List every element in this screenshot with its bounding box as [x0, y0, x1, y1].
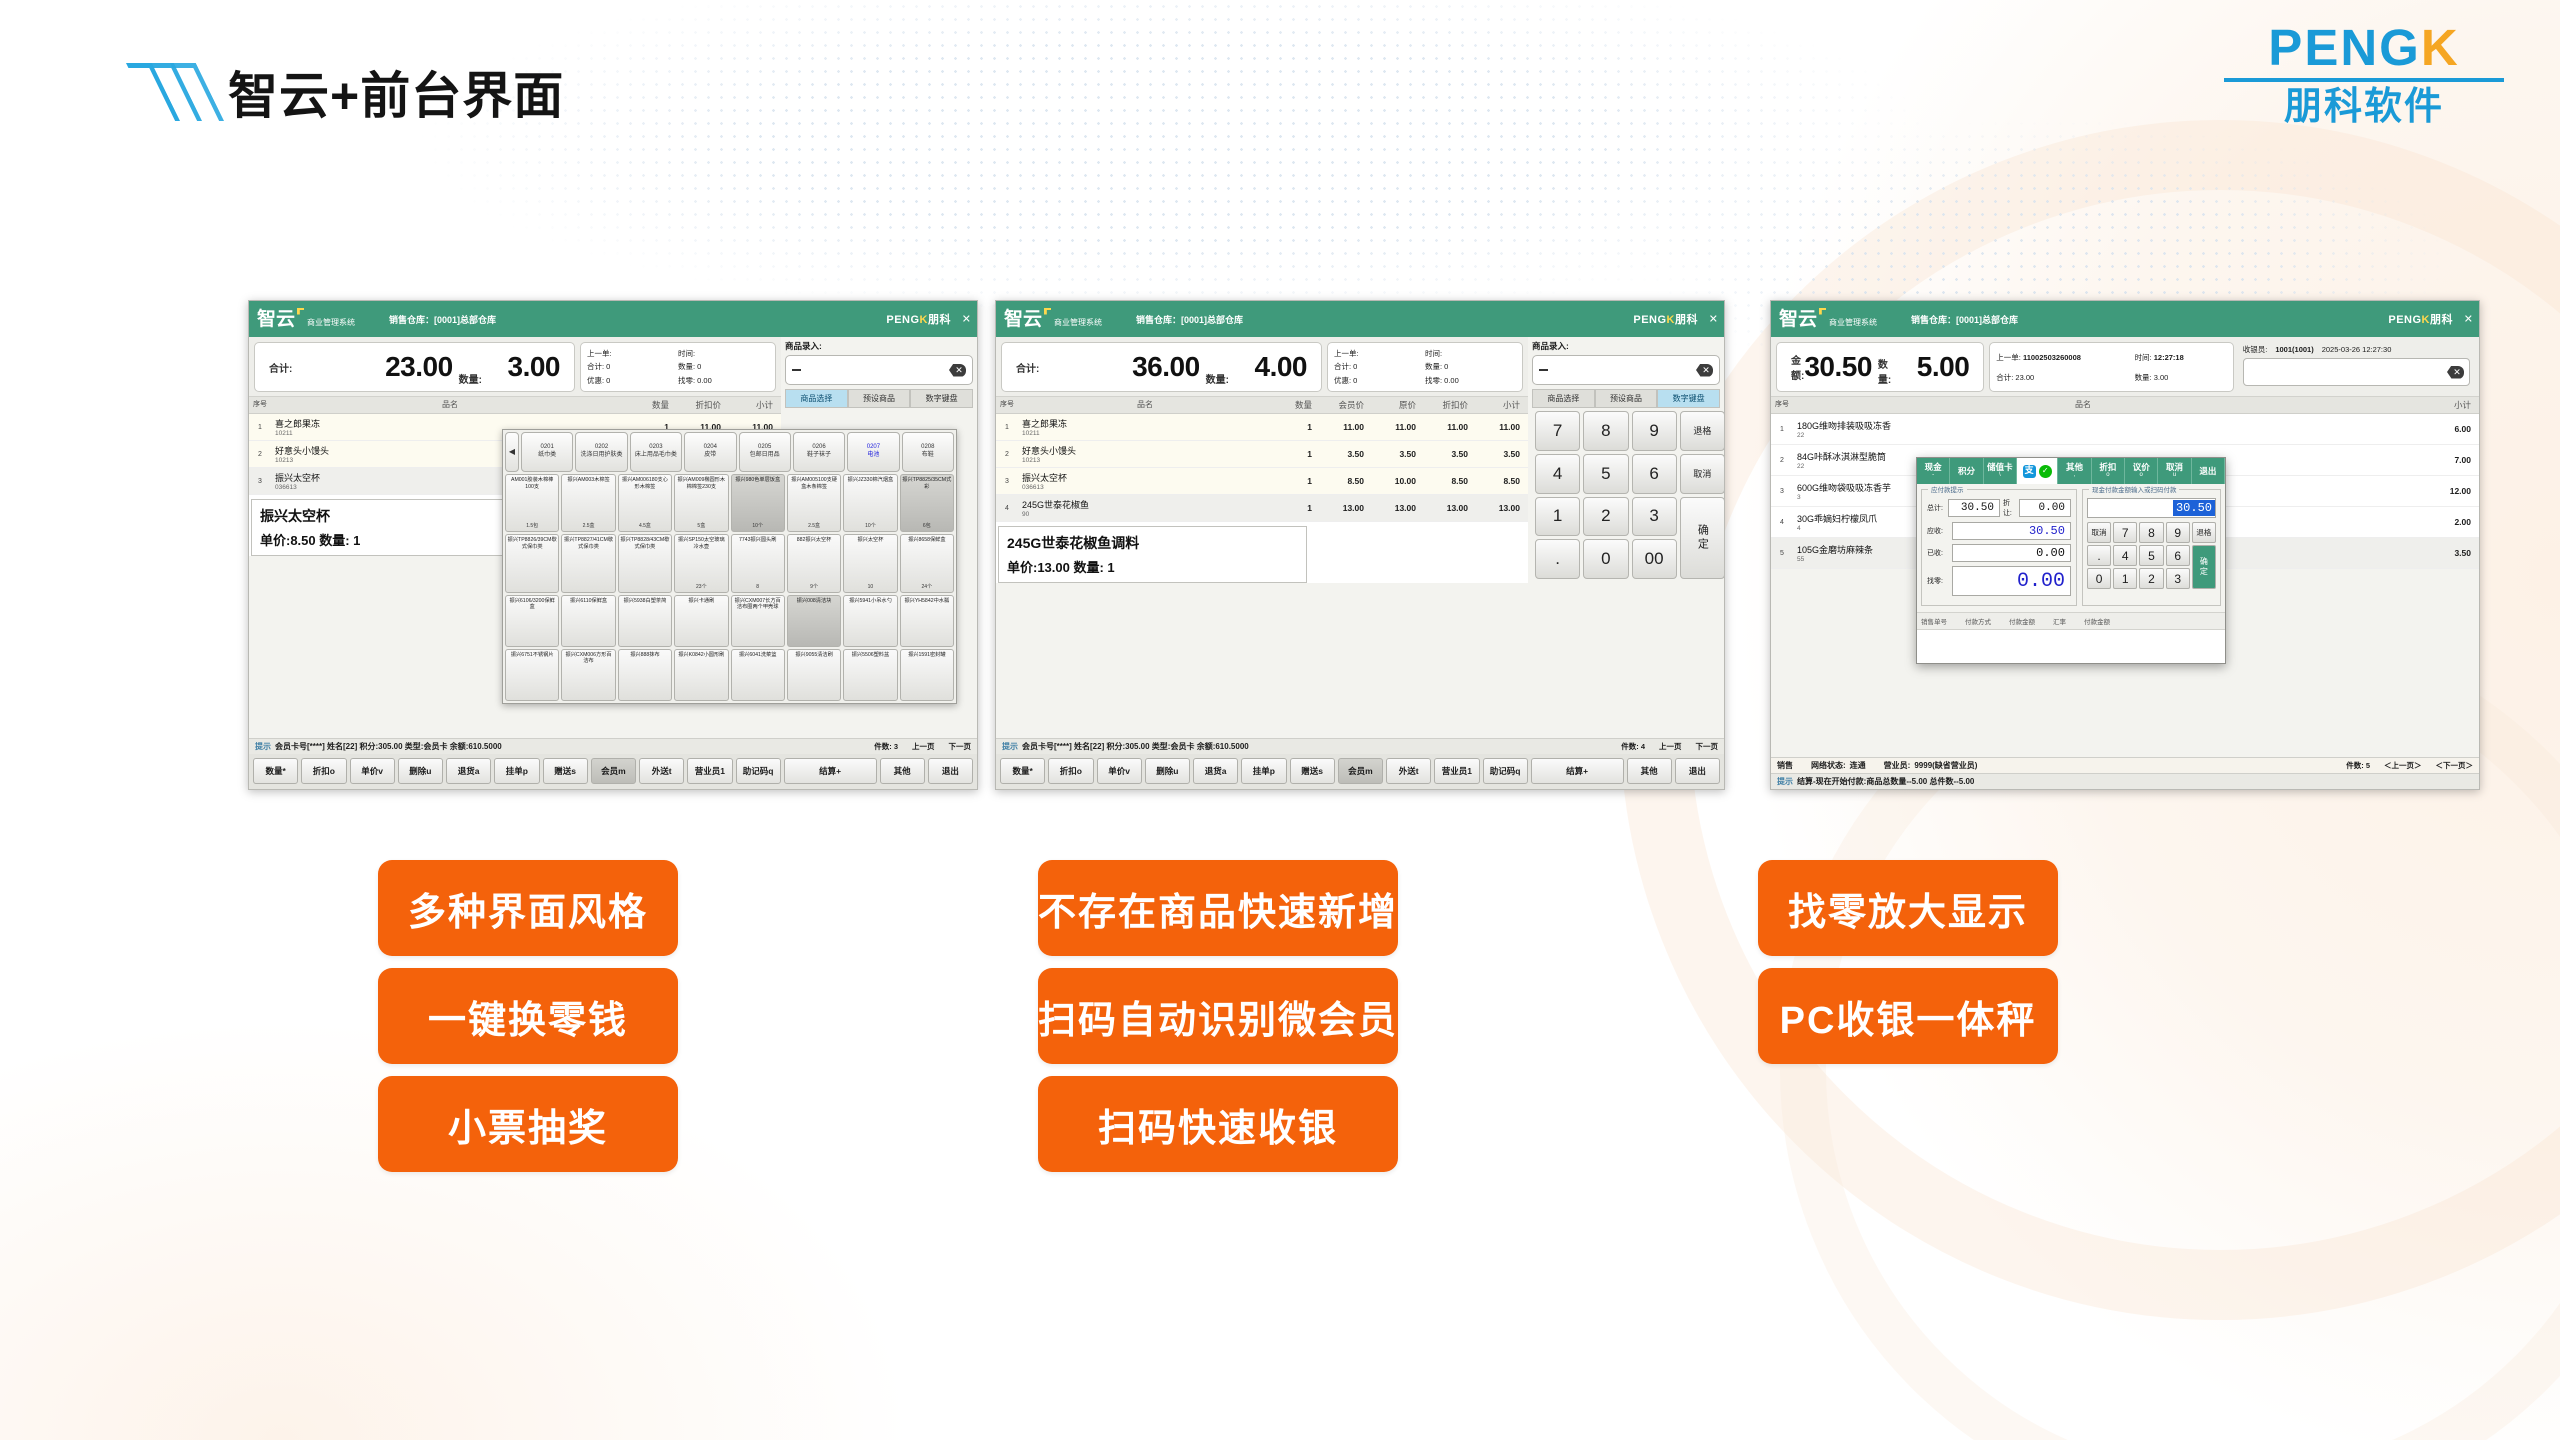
category-button[interactable]: 0206鞋子袜子: [793, 432, 845, 472]
toolbar-button[interactable]: 会员m: [1338, 758, 1383, 784]
page-next-button[interactable]: 下一页: [949, 741, 972, 752]
product-tile[interactable]: 振兴888抹布: [618, 649, 672, 701]
product-tile[interactable]: 振兴6106/3200保鲜盒: [505, 595, 559, 647]
product-tile[interactable]: 振兴卡通刷: [674, 595, 728, 647]
pos2-selected-item-detail: 245G世泰花椒鱼调料 单价:13.00 数量: 1: [998, 526, 1307, 583]
product-entry-input[interactable]: ✕: [1532, 355, 1720, 385]
pos3-qty-value: 5.00: [1895, 351, 1969, 383]
pos3-prompt-text: 结算-现在开始付款:商品总数量--5.00 总件数--5.00: [1797, 776, 1974, 787]
pos2-member-status: 会员卡号[****] 姓名[22] 积分:305.00 类型:会员卡 余额:61…: [1022, 741, 1249, 752]
payment-tab[interactable]: 折扣o: [2092, 458, 2125, 484]
payment-keypad-key[interactable]: 6: [2166, 545, 2190, 566]
pos3-clerk: 9999(缺省营业员): [1914, 760, 1977, 771]
pos1-warehouse: 销售仓库：[0001]总部仓库: [389, 313, 496, 326]
toolbar-button[interactable]: 删除u: [398, 758, 443, 784]
double-chevron-icon: [140, 63, 206, 121]
product-tile[interactable]: 振兴6751不锈钢片: [505, 649, 559, 701]
keypad-key[interactable]: 6: [1632, 454, 1677, 494]
toolbar-button[interactable]: 数量*: [253, 758, 298, 784]
product-tile[interactable]: 振兴5506塑料盆: [843, 649, 897, 701]
keypad-key[interactable]: 退格: [1680, 411, 1725, 451]
feature-button[interactable]: 扫码快速收银: [1038, 1076, 1398, 1172]
feature-button[interactable]: 小票抽奖: [378, 1076, 678, 1172]
pos3-footer: 销售 网络状态: 连通 营业员: 9999(缺省营业员) 件数: 5 ＜上一页＞…: [1771, 757, 2479, 789]
toolbar-button[interactable]: 赠送s: [543, 758, 588, 784]
pos3-titlebar: 智云 商业管理系统 销售仓库：[0001]总部仓库 PENGK朋科 ✕: [1771, 301, 2479, 337]
feature-button[interactable]: 扫码自动识别微会员: [1038, 968, 1398, 1064]
toolbar-button[interactable]: 结算+: [1531, 758, 1624, 784]
toolbar-button[interactable]: 退货a: [1193, 758, 1238, 784]
page-prev-button[interactable]: 上一页: [912, 741, 935, 752]
payment-dialog-body: 应付款提示 总计: 30.50 折让: 0.00 应收: 30.50 已收: 0…: [1917, 484, 2225, 612]
page-header: 智云+前台界面: [140, 56, 564, 128]
page-next-button[interactable]: ＜下一页＞: [2436, 760, 2474, 771]
pos2-summary: 合计: 36.00 数量: 4.00 上一单: 合计: 0 优惠: 0 时间: …: [996, 337, 1528, 396]
payment-tab[interactable]: 积分: [1950, 458, 1983, 484]
product-tile[interactable]: 振兴6041洗菜篮: [731, 649, 785, 701]
payment-tab[interactable]: 现金-: [1917, 458, 1950, 484]
category-button[interactable]: 0208布鞋: [902, 432, 954, 472]
pos1-toolbar: 数量*折扣o单价v删除u退货a挂单p赠送s会员m外送t营业员1助记码q结算+其他…: [249, 754, 977, 789]
close-icon[interactable]: ✕: [962, 313, 971, 326]
pos1-qty-value: 3.00: [486, 351, 560, 383]
pos3-mode: 销售: [1777, 760, 1793, 771]
keypad-key[interactable]: 3: [1632, 497, 1677, 537]
tab-numpad[interactable]: 数字键盘: [1657, 389, 1720, 408]
payment-tab[interactable]: 议价o: [2125, 458, 2158, 484]
keypad-key[interactable]: 0: [1583, 539, 1628, 579]
table-row[interactable]: 4 245G世泰花椒鱼90 1 13.00 13.00 13.00 13.00: [996, 495, 1528, 522]
wechat-pay-icon[interactable]: ✓: [2039, 465, 2052, 478]
product-tile[interactable]: 振兴TP8826/39CM歇式保巾类: [505, 534, 559, 592]
payment-keypad-key[interactable]: 确定: [2192, 545, 2216, 589]
pos2-titlebar: 智云 商业管理系统 销售仓库：[0001]总部仓库 PENGK朋科 ✕: [996, 301, 1724, 337]
feature-button[interactable]: 不存在商品快速新增: [1038, 860, 1398, 956]
product-tile[interactable]: 振兴CXM007长方百洁布圈两个甲壳球: [731, 595, 785, 647]
pos1-product-grid: AM001胶装木棉棒100支1.5包振兴AM003木棉签2.5盒振兴AM0061…: [505, 474, 954, 701]
pos2-footer: 提示 会员卡号[****] 姓名[22] 积分:305.00 类型:会员卡 余额…: [996, 738, 1724, 789]
logo-divider: [2224, 78, 2504, 82]
pos3-summary: 金额: 30.50 数量: 5.00 上一单: 11002503260008 合…: [1771, 337, 2479, 396]
payment-footer-column: 付款方式: [1965, 616, 1991, 626]
keypad-key[interactable]: 2: [1583, 497, 1628, 537]
pos2-total-value: 36.00: [1132, 351, 1200, 383]
product-tile[interactable]: 振兴8658保鲜盒24个: [900, 534, 954, 592]
payment-footer-column: 销售单号: [1921, 616, 1947, 626]
pos2-item-table: 序号 品名 数量 会员价 原价 折扣价 小计 1 喜之郎果冻10211 1 11…: [996, 396, 1528, 583]
payment-receivable-field: 30.50: [1952, 522, 2071, 540]
pos3-total-value: 30.50: [1804, 351, 1872, 383]
payment-keypad-key[interactable]: 7: [2113, 522, 2137, 543]
category-prev-button[interactable]: ◀: [505, 432, 519, 472]
keypad-key[interactable]: 8: [1583, 411, 1628, 451]
keypad-key[interactable]: 4: [1535, 454, 1580, 494]
pos3-datetime: 2025-03-26 12:27:30: [2322, 345, 2392, 354]
pos2-total-panel: 合计: 36.00 数量: 4.00: [1001, 342, 1322, 392]
pos1-brand: 智云 商业管理系统: [257, 310, 355, 329]
toolbar-button[interactable]: 助记码q: [736, 758, 781, 784]
category-button[interactable]: 0201纸巾类: [521, 432, 573, 472]
toolbar-button[interactable]: 退货a: [446, 758, 491, 784]
pos3-vendor-logo: PENGK朋科: [2388, 311, 2453, 327]
product-tile[interactable]: 振兴008清洁块: [787, 595, 841, 647]
product-tile[interactable]: 振兴9055清洁刷: [787, 649, 841, 701]
toolbar-button[interactable]: 结算+: [784, 758, 877, 784]
toolbar-button[interactable]: 单价v: [350, 758, 395, 784]
clear-icon[interactable]: ✕: [2447, 366, 2464, 379]
page-prev-button[interactable]: ＜上一页＞: [2384, 760, 2422, 771]
payment-input-group: 现金付款金额输入或扫码付款 30.50 取消789退格.456确定0123: [2082, 489, 2221, 606]
toolbar-button[interactable]: 其他: [1627, 758, 1672, 784]
toolbar-button[interactable]: 会员m: [591, 758, 636, 784]
payment-received-field: 0.00: [1952, 544, 2071, 562]
payment-footer-column: 汇率: [2053, 616, 2066, 626]
pos1-statusbar: 提示 会员卡号[****] 姓名[22] 积分:305.00 类型:会员卡 余额…: [249, 738, 977, 754]
payment-keypad-key[interactable]: 9: [2166, 522, 2190, 543]
product-tile[interactable]: 振兴AM009椭圆形木棉棉签230支5盒: [674, 474, 728, 532]
logo-wordmark: PENGK: [2224, 22, 2504, 73]
product-tile[interactable]: 振兴CXM006方形百洁布: [561, 649, 615, 701]
keypad-key[interactable]: 取消: [1680, 454, 1725, 494]
table-row[interactable]: 1 喜之郎果冻10211 1 11.00 11.00 11.00 11.00: [996, 414, 1528, 441]
payment-rebate-field: 0.00: [2019, 499, 2071, 517]
page-title: 智云+前台界面: [228, 56, 564, 128]
toolbar-button[interactable]: 营业员1: [687, 758, 732, 784]
toolbar-button[interactable]: 退出: [1675, 758, 1720, 784]
pos-window-2: 智云 商业管理系统 销售仓库：[0001]总部仓库 PENGK朋科 ✕ 合计: …: [995, 300, 1725, 790]
pos2-entry-tabs: 商品选择 预设商品 数字键盘: [1532, 389, 1720, 408]
product-tile[interactable]: 振兴TP8825/35CM式彩6包: [900, 474, 954, 532]
payment-keypad: 取消789退格.456确定0123: [2087, 522, 2216, 589]
payment-tab-scan-codes[interactable]: 支✓: [2017, 458, 2058, 484]
keypad-key[interactable]: 7: [1535, 411, 1580, 451]
product-tile[interactable]: 振兴AM006180支心形木棉签4.5盒: [618, 474, 672, 532]
alipay-icon[interactable]: 支: [2023, 465, 2036, 478]
pos1-titlebar: 智云 商业管理系统 销售仓库：[0001]总部仓库 PENGK朋科 ✕: [249, 301, 977, 337]
text-caret: [792, 369, 801, 371]
feature-button[interactable]: 一键换零钱: [378, 968, 678, 1064]
payment-keypad-key[interactable]: 8: [2139, 522, 2163, 543]
toolbar-button[interactable]: 助记码q: [1483, 758, 1528, 784]
pos3-cashier-panel: 收银员: 1001(1001) 2025-03-26 12:27:30 ✕: [2239, 342, 2474, 392]
product-tile[interactable]: 振兴TP8827/41CM歇式保巾类: [561, 534, 615, 592]
pos1-summary: 合计: 23.00 数量: 3.00 上一单: 合计: 0 优惠: 0 时间: …: [249, 337, 781, 396]
pos2-vendor-logo: PENGK朋科: [1633, 311, 1698, 327]
keypad-key[interactable]: 00: [1632, 539, 1677, 579]
toolbar-button[interactable]: 营业员1: [1434, 758, 1479, 784]
keypad-key[interactable]: 1: [1535, 497, 1580, 537]
pos1-member-status: 会员卡号[****] 姓名[22] 积分:305.00 类型:会员卡 余额:61…: [275, 741, 502, 752]
product-tile[interactable]: 振兴JZ330棉汽烟盒10个: [843, 474, 897, 532]
toolbar-button[interactable]: 折扣o: [301, 758, 346, 784]
clear-icon[interactable]: ✕: [1696, 364, 1713, 377]
page-next-button[interactable]: 下一页: [1696, 741, 1719, 752]
payment-footer-columns: 销售单号付款方式付款金额汇率付款金额: [1917, 612, 2225, 629]
pos1-category-row: ◀ 0201纸巾类 0202洗涤日用护肤类 0203床上用品毛巾类 0204皮带…: [505, 432, 954, 472]
payment-method-tabs: 现金-积分储值卡\支✓其他,折扣o议价o取消u退出: [1917, 458, 2225, 484]
payment-amount-input[interactable]: 30.50: [2087, 498, 2216, 518]
pos2-numeric-keypad: 789退格456取消123确定.000: [1532, 408, 1725, 582]
pos2-brand: 智云 商业管理系统: [1004, 310, 1102, 329]
product-tile[interactable]: AM001胶装木棉棒100支1.5包: [505, 474, 559, 532]
feature-button[interactable]: 多种界面风格: [378, 860, 678, 956]
pos1-table-header: 序号 品名 数量 折扣价 小计: [249, 397, 781, 414]
product-tile[interactable]: 振兴TP8828/43CM歇式保巾类: [618, 534, 672, 592]
category-button[interactable]: 0204皮带: [684, 432, 736, 472]
logo-subtitle: 朋科软件: [2224, 88, 2504, 126]
payment-keypad-key[interactable]: .: [2087, 545, 2111, 566]
toolbar-button[interactable]: 其他: [880, 758, 925, 784]
tab-preset-product[interactable]: 预设商品: [1595, 389, 1658, 408]
pos3-network-status: 连通: [1850, 760, 1866, 771]
payment-dialog: 现金-积分储值卡\支✓其他,折扣o议价o取消u退出 应付款提示 总计: 30.5…: [1916, 457, 2226, 664]
tab-numpad[interactable]: 数字键盘: [910, 389, 973, 408]
feature-button[interactable]: PC收银一体秤: [1758, 968, 2058, 1064]
payment-keypad-key[interactable]: 4: [2113, 545, 2137, 566]
product-tile[interactable]: 振兴5941小吊水勺: [843, 595, 897, 647]
clear-icon[interactable]: ✕: [949, 364, 966, 377]
product-tile[interactable]: 振兴AM005100支硬盒木条棉签2.5盒: [787, 474, 841, 532]
payment-tab[interactable]: 其他,: [2058, 458, 2091, 484]
text-caret: [1539, 369, 1548, 371]
product-tile[interactable]: 振兴AM003木棉签2.5盒: [561, 474, 615, 532]
page-prev-button[interactable]: 上一页: [1659, 741, 1682, 752]
close-icon[interactable]: ✕: [2464, 313, 2473, 326]
payment-change-field: 0.00: [1952, 566, 2071, 596]
product-tile[interactable]: 882振兴太空杯9个: [787, 534, 841, 592]
pos1-entry-tabs: 商品选择 预设商品 数字键盘: [785, 389, 973, 408]
payment-tab[interactable]: 退出: [2192, 458, 2225, 484]
toolbar-button[interactable]: 单价v: [1097, 758, 1142, 784]
toolbar-button[interactable]: 外送t: [1386, 758, 1431, 784]
pos1-footer: 提示 会员卡号[****] 姓名[22] 积分:305.00 类型:会员卡 余额…: [249, 738, 977, 789]
tab-preset-product[interactable]: 预设商品: [848, 389, 911, 408]
payment-footer-column: 付款金额: [2084, 616, 2110, 626]
pos1-total-value: 23.00: [385, 351, 453, 383]
keypad-key[interactable]: 9: [1632, 411, 1677, 451]
toolbar-button[interactable]: 删除u: [1145, 758, 1190, 784]
keypad-key[interactable]: 确定: [1680, 497, 1725, 580]
product-entry-input[interactable]: ✕: [785, 355, 973, 385]
pos1-total-panel: 合计: 23.00 数量: 3.00: [254, 342, 575, 392]
payment-record-area: [1917, 629, 2225, 663]
product-tile[interactable]: 振兴K0842小圆形刷: [674, 649, 728, 701]
payment-total-field: 30.50: [1948, 499, 2000, 517]
pos3-warehouse: 销售仓库：[0001]总部仓库: [1911, 313, 2018, 326]
payment-tab[interactable]: 取消u: [2158, 458, 2191, 484]
keypad-key[interactable]: .: [1535, 539, 1580, 579]
payment-keypad-key[interactable]: 5: [2139, 545, 2163, 566]
payment-keypad-key[interactable]: 退格: [2192, 522, 2216, 543]
payment-keypad-key[interactable]: 取消: [2087, 522, 2111, 543]
pos2-last-order-panel: 上一单: 合计: 0 优惠: 0 时间: 数量: 0 找零: 0.00: [1327, 342, 1523, 392]
table-row[interactable]: 3 振兴太空杯036613 1 8.50 10.00 8.50 8.50: [996, 468, 1528, 495]
category-button[interactable]: 0202洗涤日用护肤类: [575, 432, 627, 472]
pos1-last-order-panel: 上一单: 合计: 0 优惠: 0 时间: 数量: 0 找零: 0.00: [580, 342, 776, 392]
toolbar-button[interactable]: 赠送s: [1290, 758, 1335, 784]
pos3-item-table: 序号 品名 小计 1 180G维吻排装吸吸冻香22 6.00 2 84G咔酥冰淇…: [1771, 396, 2479, 569]
close-icon[interactable]: ✕: [1709, 313, 1718, 326]
tab-product-select[interactable]: 商品选择: [1532, 389, 1595, 408]
pos3-cashier-id: 1001(1001): [2275, 345, 2313, 354]
product-tile[interactable]: 振兴6110保鲜盒: [561, 595, 615, 647]
category-button[interactable]: 0203床上用品毛巾类: [630, 432, 682, 472]
pos2-table-header: 序号 品名 数量 会员价 原价 折扣价 小计: [996, 397, 1528, 414]
pos2-warehouse: 销售仓库：[0001]总部仓库: [1136, 313, 1243, 326]
product-tile[interactable]: 振兴太空杯10: [843, 534, 897, 592]
toolbar-button[interactable]: 退出: [928, 758, 973, 784]
pos3-statusbar-top: 销售 网络状态: 连通 营业员: 9999(缺省营业员) 件数: 5 ＜上一页＞…: [1771, 757, 2479, 773]
pos2-toolbar: 数量*折扣o单价v删除u退货a挂单p赠送s会员m外送t营业员1助记码q结算+其他…: [996, 754, 1724, 789]
payment-keypad-key[interactable]: 3: [2166, 568, 2190, 589]
product-tile[interactable]: 振兴YH5842中水瓢: [900, 595, 954, 647]
payment-keypad-key[interactable]: 2: [2139, 568, 2163, 589]
table-row[interactable]: 2 好意头小馒头10213 1 3.50 3.50 3.50 3.50: [996, 441, 1528, 468]
payment-tab[interactable]: 储值卡\: [1984, 458, 2017, 484]
pos2-entry-panel: 商品录入: ✕ 商品选择 预设商品 数字键盘 789退格456取消123确定.0…: [1528, 337, 1724, 583]
payable-info-group: 应付款提示 总计: 30.50 折让: 0.00 应收: 30.50 已收: 0…: [1921, 489, 2077, 606]
table-row[interactable]: 1 180G维吻排装吸吸冻香22 6.00: [1771, 414, 2479, 445]
category-button[interactable]: 0205包邮日用品: [739, 432, 791, 472]
product-tile[interactable]: 振兴SP150太空玻璃冷水壶23个: [674, 534, 728, 592]
pos2-statusbar: 提示 会员卡号[****] 姓名[22] 积分:305.00 类型:会员卡 余额…: [996, 738, 1724, 754]
pos1-vendor-logo: PENGK朋科: [886, 311, 951, 327]
company-logo: PENGK 朋科软件: [2224, 22, 2504, 126]
product-tile[interactable]: 振兴980色单层饭盒10个: [731, 474, 785, 532]
pos3-statusbar-prompt: 提示 结算-现在开始付款:商品总数量--5.00 总件数--5.00: [1771, 773, 2479, 789]
product-tile[interactable]: 7743振兴圆头刷8: [731, 534, 785, 592]
pos-window-3: 智云 商业管理系统 销售仓库：[0001]总部仓库 PENGK朋科 ✕ 金额: …: [1770, 300, 2480, 790]
product-tile[interactable]: 振兴1591密封罐: [900, 649, 954, 701]
pos-window-1: 智云 商业管理系统 销售仓库：[0001]总部仓库 PENGK朋科 ✕ 合计: …: [248, 300, 978, 790]
pos3-last-order-panel: 上一单: 11002503260008 合计: 23.00 时间: 12:27:…: [1989, 342, 2233, 392]
pos3-total-panel: 金额: 30.50 数量: 5.00: [1776, 342, 1984, 392]
toolbar-button[interactable]: 挂单p: [1241, 758, 1286, 784]
toolbar-button[interactable]: 外送t: [639, 758, 684, 784]
keypad-key[interactable]: 5: [1583, 454, 1628, 494]
category-button[interactable]: 0207电池: [847, 432, 899, 472]
tab-product-select[interactable]: 商品选择: [785, 389, 848, 408]
pos3-brand: 智云 商业管理系统: [1779, 310, 1877, 329]
pos3-scan-input[interactable]: ✕: [2243, 358, 2470, 386]
toolbar-button[interactable]: 数量*: [1000, 758, 1045, 784]
toolbar-button[interactable]: 折扣o: [1048, 758, 1093, 784]
product-tile[interactable]: 振兴5938白塑茶简: [618, 595, 672, 647]
pos3-table-header: 序号 品名 小计: [1771, 397, 2479, 414]
pos2-qty-value: 4.00: [1233, 351, 1307, 383]
toolbar-button[interactable]: 挂单p: [494, 758, 539, 784]
pos1-product-picker-popup: ◀ 0201纸巾类 0202洗涤日用护肤类 0203床上用品毛巾类 0204皮带…: [502, 429, 957, 704]
payment-keypad-key[interactable]: 0: [2087, 568, 2111, 589]
payment-keypad-key[interactable]: 1: [2113, 568, 2137, 589]
payment-footer-column: 付款金额: [2009, 616, 2035, 626]
feature-button[interactable]: 找零放大显示: [1758, 860, 2058, 956]
